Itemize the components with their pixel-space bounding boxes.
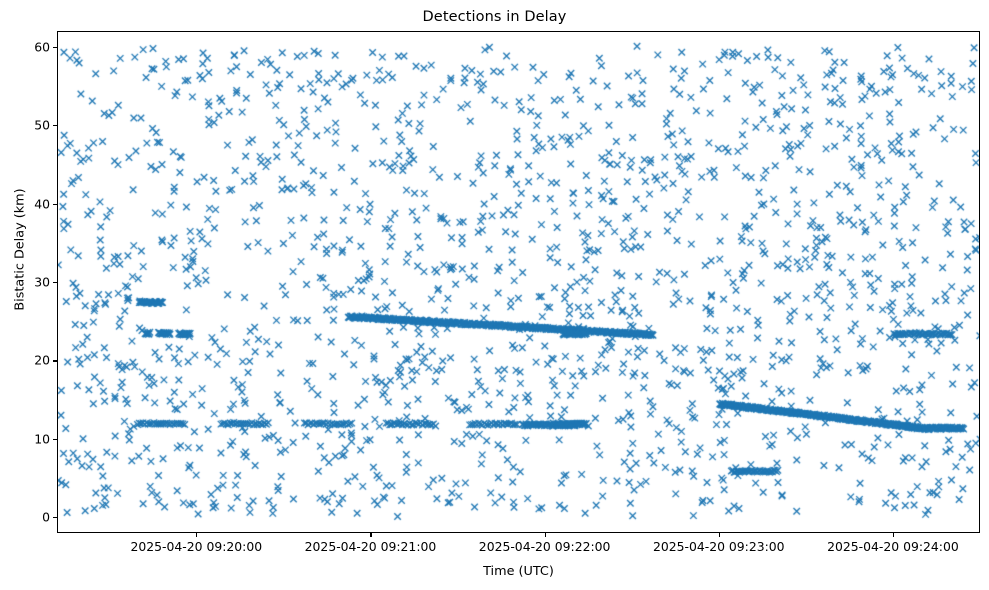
y-tick-label: 0 (16, 510, 50, 525)
x-tick-mark (719, 533, 720, 537)
x-tick-label: 2025-04-20 09:21:00 (305, 539, 437, 554)
figure-canvas: Detections in Delay 0102030405060 Bistat… (0, 0, 989, 590)
x-tick-mark (370, 533, 371, 537)
x-tick-label: 2025-04-20 09:24:00 (827, 539, 959, 554)
y-tick-mark (53, 282, 57, 283)
x-tick-mark (196, 533, 197, 537)
y-tick-label: 10 (16, 431, 50, 446)
x-tick-label: 2025-04-20 09:23:00 (653, 539, 785, 554)
y-tick-mark (53, 517, 57, 518)
plot-axes-area (57, 31, 980, 533)
scatter-plot-canvas (58, 32, 980, 533)
y-tick-mark (53, 204, 57, 205)
y-tick-mark (53, 125, 57, 126)
x-tick-mark (545, 533, 546, 537)
x-tick-mark (893, 533, 894, 537)
x-axis-label: Time (UTC) (57, 564, 980, 579)
chart-title: Detections in Delay (0, 9, 989, 25)
x-tick-label: 2025-04-20 09:20:00 (131, 539, 263, 554)
x-tick-label: 2025-04-20 09:22:00 (479, 539, 611, 554)
y-tick-mark (53, 439, 57, 440)
y-tick-label: 60 (16, 39, 50, 54)
y-tick-mark (53, 47, 57, 48)
y-axis-label: Bistatic Delay (km) (13, 130, 28, 370)
y-tick-mark (53, 360, 57, 361)
